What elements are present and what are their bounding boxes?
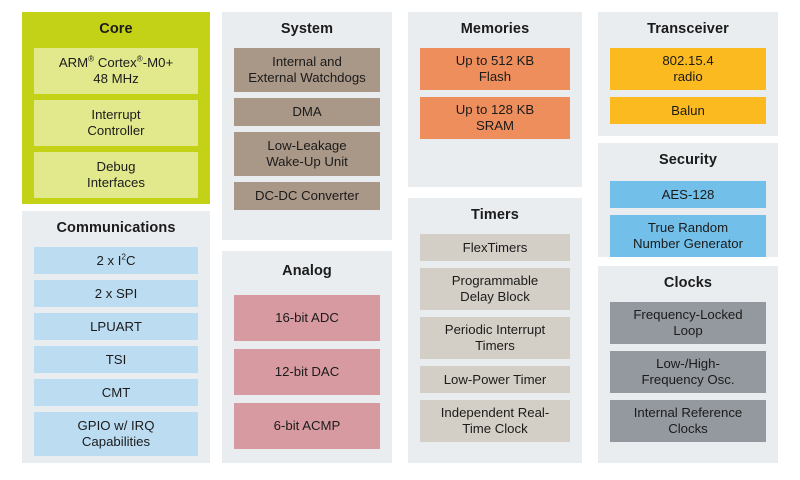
block-arm-cortex-m0plus[interactable]: ARM® Cortex®-M0+ 48 MHz	[34, 48, 198, 94]
block-label-line2: Delay Block	[452, 289, 539, 305]
block-label-line1: AES-128	[662, 187, 715, 203]
block-flash[interactable]: Up to 512 KB Flash	[420, 48, 570, 90]
block-label-line1: 802.15.4	[662, 53, 713, 69]
panel-system-title: System	[222, 12, 392, 38]
panel-memories-title: Memories	[408, 12, 582, 38]
block-label-line2: Time Clock	[441, 421, 550, 437]
block-frequency-locked-loop[interactable]: Frequency-Locked Loop	[610, 302, 766, 344]
block-label-line2: Capabilities	[78, 434, 155, 450]
panel-communications-title: Communications	[22, 211, 210, 237]
block-label-line1: TSI	[106, 352, 127, 368]
block-lpuart[interactable]: LPUART	[34, 313, 198, 340]
block-label-line2: Loop	[633, 323, 742, 339]
block-label-line2: Frequency Osc.	[641, 372, 734, 388]
panel-system[interactable]: System Internal and External Watchdogs D…	[222, 12, 392, 240]
panel-communications[interactable]: Communications 2 x I2C 2 x SPI LPUART TS…	[22, 211, 210, 463]
panel-security-title: Security	[598, 143, 778, 169]
panel-timers-title: Timers	[408, 198, 582, 224]
block-label-line1: LPUART	[90, 319, 142, 335]
panel-timers-blocks: FlexTimers Programmable Delay Block Peri…	[408, 234, 582, 442]
block-label-line2: Controller	[87, 123, 144, 139]
block-cmt[interactable]: CMT	[34, 379, 198, 406]
panel-communications-blocks: 2 x I2C 2 x SPI LPUART TSI CMT GPIO w/ I…	[22, 247, 210, 456]
block-label-line2: Clocks	[634, 421, 743, 437]
panel-analog[interactable]: Analog 16-bit ADC 12-bit DAC 6-bit ACMP	[222, 251, 392, 463]
panel-core-title: Core	[22, 12, 210, 38]
block-dc-dc-converter[interactable]: DC-DC Converter	[234, 182, 380, 210]
block-flextimers[interactable]: FlexTimers	[420, 234, 570, 261]
block-label-line1: Frequency-Locked	[633, 307, 742, 323]
block-sram[interactable]: Up to 128 KB SRAM	[420, 97, 570, 139]
panel-memories[interactable]: Memories Up to 512 KB Flash Up to 128 KB…	[408, 12, 582, 187]
block-label-line1: 16-bit ADC	[275, 310, 339, 326]
block-label-line1: Up to 128 KB	[456, 102, 534, 118]
block-periodic-interrupt-timers[interactable]: Periodic Interrupt Timers	[420, 317, 570, 359]
block-label-line1: DC-DC Converter	[255, 188, 359, 204]
block-programmable-delay-block[interactable]: Programmable Delay Block	[420, 268, 570, 310]
block-internal-reference-clocks[interactable]: Internal Reference Clocks	[610, 400, 766, 442]
panel-transceiver-blocks: 802.15.4 radio Balun	[598, 48, 778, 124]
block-low-high-frequency-osc[interactable]: Low-/High- Frequency Osc.	[610, 351, 766, 393]
block-label-line1: Programmable	[452, 273, 539, 289]
block-label-line1: 2 x SPI	[95, 286, 138, 302]
block-gpio-irq[interactable]: GPIO w/ IRQ Capabilities	[34, 412, 198, 456]
panel-analog-blocks: 16-bit ADC 12-bit DAC 6-bit ACMP	[222, 295, 392, 449]
block-label-line1: Up to 512 KB	[456, 53, 534, 69]
block-label-line2: radio	[662, 69, 713, 85]
block-true-random-number-generator[interactable]: True Random Number Generator	[610, 215, 766, 257]
panel-analog-title: Analog	[222, 251, 392, 280]
block-6bit-acmp[interactable]: 6-bit ACMP	[234, 403, 380, 449]
block-dma[interactable]: DMA	[234, 98, 380, 126]
block-balun[interactable]: Balun	[610, 97, 766, 124]
block-label-line2: SRAM	[456, 118, 534, 134]
block-label-line2: Wake-Up Unit	[266, 154, 348, 170]
block-label-line2: Interfaces	[87, 175, 145, 191]
block-16bit-adc[interactable]: 16-bit ADC	[234, 295, 380, 341]
block-label-line1: Internal and	[248, 54, 366, 70]
block-label-line1: Low-/High-	[641, 356, 734, 372]
block-tsi[interactable]: TSI	[34, 346, 198, 373]
block-debug-interfaces[interactable]: Debug Interfaces	[34, 152, 198, 198]
block-12bit-dac[interactable]: 12-bit DAC	[234, 349, 380, 395]
block-label-line1: Interrupt	[87, 107, 144, 123]
block-label-line2: 48 MHz	[59, 71, 173, 87]
block-label-line1: Low-Leakage	[266, 138, 348, 154]
panel-clocks-title: Clocks	[598, 266, 778, 292]
block-label-line1: DMA	[292, 104, 321, 120]
block-label-line2: Flash	[456, 69, 534, 85]
block-label-line1: ARM® Cortex®-M0+	[59, 55, 173, 71]
panel-security-blocks: AES-128 True Random Number Generator	[598, 181, 778, 257]
block-label-line2: Timers	[445, 338, 545, 354]
block-label-line1: Internal Reference	[634, 405, 743, 421]
block-independent-real-time-clock[interactable]: Independent Real- Time Clock	[420, 400, 570, 442]
block-label-line1: Debug	[87, 159, 145, 175]
block-label-line1: FlexTimers	[463, 240, 528, 256]
panel-system-blocks: Internal and External Watchdogs DMA Low-…	[222, 48, 392, 210]
panel-transceiver-title: Transceiver	[598, 12, 778, 38]
block-low-leakage-wakeup-unit[interactable]: Low-Leakage Wake-Up Unit	[234, 132, 380, 176]
block-label-line1: 12-bit DAC	[275, 364, 340, 380]
panel-core[interactable]: Core ARM® Cortex®-M0+ 48 MHz Interrupt C…	[22, 12, 210, 204]
block-label-line2: External Watchdogs	[248, 70, 366, 86]
block-label-line1: Balun	[671, 103, 705, 119]
block-802-15-4-radio[interactable]: 802.15.4 radio	[610, 48, 766, 90]
panel-clocks[interactable]: Clocks Frequency-Locked Loop Low-/High- …	[598, 266, 778, 463]
block-label-line1: Periodic Interrupt	[445, 322, 545, 338]
block-label-line1: Independent Real-	[441, 405, 550, 421]
panel-memories-blocks: Up to 512 KB Flash Up to 128 KB SRAM	[408, 48, 582, 139]
block-spi[interactable]: 2 x SPI	[34, 280, 198, 307]
panel-timers[interactable]: Timers FlexTimers Programmable Delay Blo…	[408, 198, 582, 463]
panel-clocks-blocks: Frequency-Locked Loop Low-/High- Frequen…	[598, 302, 778, 442]
block-label-line2: Number Generator	[633, 236, 743, 252]
block-aes-128[interactable]: AES-128	[610, 181, 766, 208]
block-watchdogs[interactable]: Internal and External Watchdogs	[234, 48, 380, 92]
panel-security[interactable]: Security AES-128 True Random Number Gene…	[598, 143, 778, 257]
panel-transceiver[interactable]: Transceiver 802.15.4 radio Balun	[598, 12, 778, 136]
block-i2c[interactable]: 2 x I2C	[34, 247, 198, 274]
block-interrupt-controller[interactable]: Interrupt Controller	[34, 100, 198, 146]
block-label-line1: 6-bit ACMP	[274, 418, 341, 434]
block-label-line1: Low-Power Timer	[444, 372, 547, 388]
block-diagram-canvas: Core ARM® Cortex®-M0+ 48 MHz Interrupt C…	[0, 0, 800, 480]
block-label-line1: True Random	[633, 220, 743, 236]
block-label-line1: GPIO w/ IRQ	[78, 418, 155, 434]
block-label-line1: CMT	[102, 385, 131, 401]
block-low-power-timer[interactable]: Low-Power Timer	[420, 366, 570, 393]
panel-core-blocks: ARM® Cortex®-M0+ 48 MHz Interrupt Contro…	[22, 48, 210, 198]
